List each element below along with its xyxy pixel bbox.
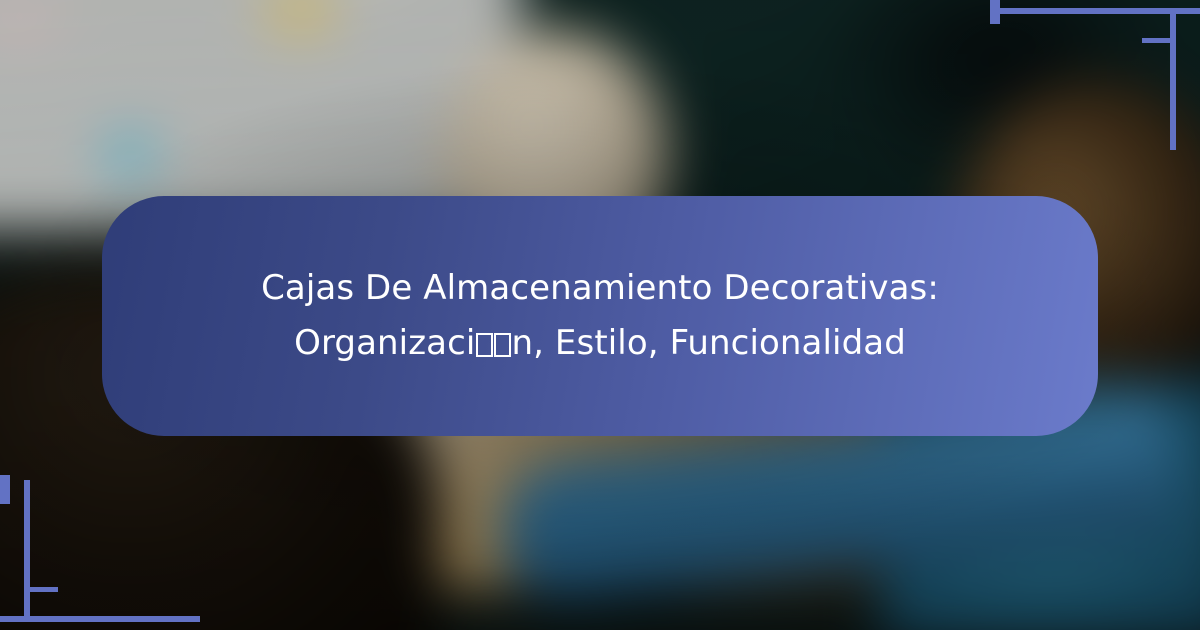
title-line-2-before: Organizaci <box>294 323 475 363</box>
missing-glyph-box-1 <box>476 333 493 357</box>
missing-glyph-box-2 <box>494 333 511 357</box>
bracket-vertical-line <box>1170 8 1176 150</box>
page-title: Cajas De Almacenamiento Decorativas:Orga… <box>261 261 939 371</box>
bracket-short-line <box>1142 38 1176 43</box>
social-card-canvas: Cajas De Almacenamiento Decorativas:Orga… <box>0 0 1200 630</box>
title-line-1: Cajas De Almacenamiento Decorativas: <box>261 268 939 308</box>
bracket-horizontal-line <box>0 616 200 622</box>
title-line-2-after: n, Estilo, Funcionalidad <box>511 323 905 363</box>
title-card: Cajas De Almacenamiento Decorativas:Orga… <box>102 196 1098 436</box>
corner-bracket-top-right-icon <box>990 0 1200 150</box>
bracket-vertical-line <box>24 480 30 622</box>
bracket-square-icon <box>990 0 1000 24</box>
corner-bracket-bottom-left-icon <box>0 480 210 630</box>
bracket-square-icon <box>0 475 10 504</box>
bracket-short-line <box>24 587 58 592</box>
